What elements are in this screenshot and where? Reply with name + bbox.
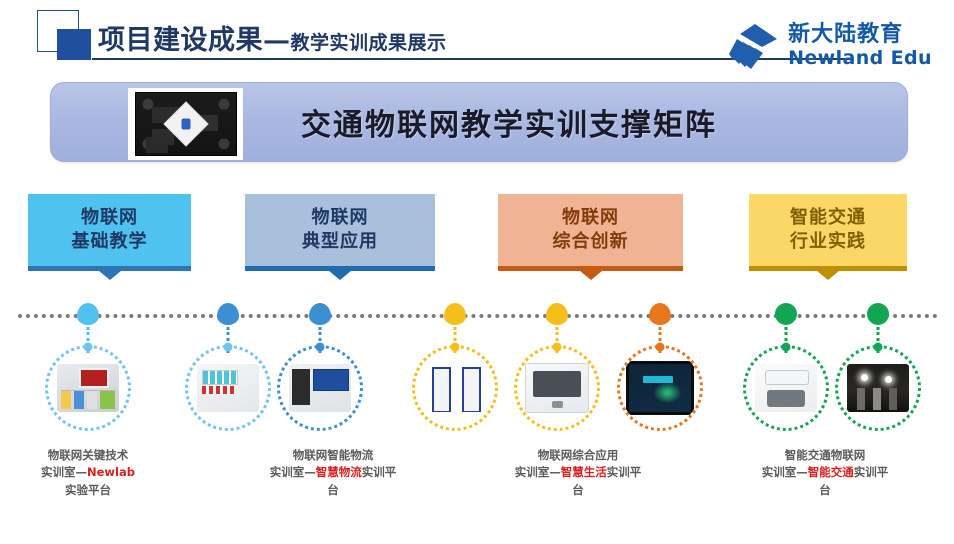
timeline-pin-5[interactable]	[546, 303, 568, 329]
timeline-pin-1[interactable]	[77, 303, 99, 329]
control-panel-equipment-image	[289, 364, 351, 412]
newland-diamond-icon	[729, 22, 781, 70]
brand-logo: 新大陆教育 Newland Edu	[729, 22, 932, 70]
node-caption-2: 物联网智能物流实训室—智慧物流实训平台	[268, 447, 398, 499]
category-box-arrow-icon	[93, 266, 127, 280]
timeline-pin-head-icon	[649, 303, 671, 325]
category-box-label: 物联网基础教学	[72, 206, 148, 254]
timeline-pin-head-icon	[77, 303, 99, 325]
category-box-4[interactable]: 智能交通行业实践	[749, 194, 907, 266]
circuit-board-icon	[135, 92, 237, 156]
category-box-label: 智能交通行业实践	[790, 206, 866, 254]
brand-name-cn: 新大陆教育	[788, 24, 932, 46]
node-anchor-dot	[782, 343, 791, 352]
page-title-main: 项目建设成果—	[98, 25, 291, 56]
newlab-training-platform-image	[57, 364, 119, 412]
node-circle-4[interactable]	[412, 345, 498, 431]
category-box-arrow-icon	[574, 266, 608, 280]
banner-title-text: 交通物联网教学实训支撑矩阵	[301, 100, 717, 144]
node-circle-1[interactable]	[45, 345, 131, 431]
caption-highlight: 智能交通	[808, 465, 854, 479]
timeline-pin-head-icon	[444, 303, 466, 325]
slide-root: 项目建设成果—教学实训成果展示 新大陆教育 Newland Edu	[0, 0, 954, 544]
caption-text-tail: 实验平台	[65, 483, 111, 497]
timeline-pin-8[interactable]	[867, 303, 889, 329]
logistics-sorting-gate-image	[424, 364, 486, 412]
sensor-module-kit-image	[197, 364, 259, 412]
category-box-label: 物联网综合创新	[553, 206, 629, 254]
header-decor-square-filled	[57, 29, 91, 60]
node-circle-3[interactable]	[277, 345, 363, 431]
night-road-scene-image	[847, 364, 909, 412]
node-anchor-dot	[84, 343, 93, 352]
timeline-pin-3[interactable]	[309, 303, 331, 329]
brand-logo-text: 新大陆教育 Newland Edu	[788, 24, 932, 68]
title-banner: 交通物联网教学实训支撑矩阵	[50, 82, 908, 162]
node-caption-4: 智能交通物联网实训室—智能交通实训平台	[760, 447, 890, 499]
banner-thumbnail	[128, 88, 243, 160]
node-circle-8[interactable]	[835, 345, 921, 431]
category-box-2[interactable]: 物联网典型应用	[245, 194, 435, 266]
node-anchor-dot	[316, 343, 325, 352]
traffic-camera-and-gateway-image	[755, 364, 817, 412]
timeline-pin-head-icon	[867, 303, 889, 325]
category-box-label: 物联网典型应用	[302, 206, 378, 254]
timeline-pin-2[interactable]	[217, 303, 239, 329]
caption-highlight: 智慧生活	[561, 465, 607, 479]
node-circle-7[interactable]	[743, 345, 829, 431]
caption-highlight: 智慧物流	[316, 465, 362, 479]
category-box-3[interactable]: 物联网综合创新	[498, 194, 683, 266]
timeline-connector-line	[18, 314, 938, 318]
node-circle-5[interactable]	[514, 345, 600, 431]
category-box-arrow-icon	[811, 266, 845, 280]
node-circle-6[interactable]	[617, 345, 703, 431]
category-box-1[interactable]: 物联网基础教学	[28, 194, 191, 266]
node-anchor-dot	[224, 343, 233, 352]
node-anchor-dot	[553, 343, 562, 352]
category-box-arrow-icon	[323, 266, 357, 280]
timeline-pin-7[interactable]	[775, 303, 797, 329]
page-title-sub: 教学实训成果展示	[291, 32, 447, 54]
node-caption-3: 物联网综合应用实训室—智慧生活实训平台	[513, 447, 643, 499]
timeline-pin-head-icon	[217, 303, 239, 325]
node-anchor-dot	[451, 343, 460, 352]
node-caption-1: 物联网关键技术实训室—Newlab实验平台	[23, 447, 153, 499]
node-anchor-dot	[656, 343, 665, 352]
caption-highlight: Newlab	[87, 465, 135, 479]
smart-home-terminal-image	[525, 363, 589, 413]
timeline-pin-head-icon	[309, 303, 331, 325]
node-anchor-dot	[874, 343, 883, 352]
timeline-pin-4[interactable]	[444, 303, 466, 329]
page-title: 项目建设成果—教学实训成果展示	[98, 18, 447, 57]
timeline-pin-6[interactable]	[649, 303, 671, 329]
timeline-pin-head-icon	[775, 303, 797, 325]
timeline-pin-head-icon	[546, 303, 568, 325]
brand-name-en: Newland Edu	[788, 49, 932, 68]
smart-city-dashboard-tablet-image	[626, 361, 694, 415]
node-circle-2[interactable]	[185, 345, 271, 431]
